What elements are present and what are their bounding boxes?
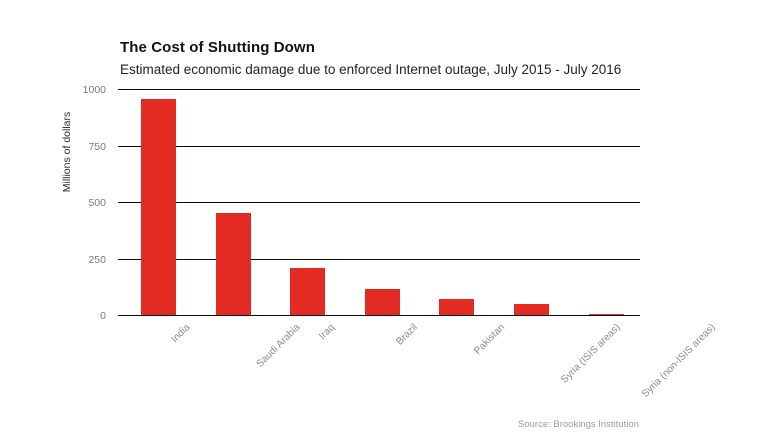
y-tick-label-500: 500 bbox=[46, 198, 106, 208]
y-tick-label-0: 0 bbox=[46, 311, 106, 321]
x-tick-label-syria-non-isis: Syria (non-ISIS areas) bbox=[640, 322, 718, 400]
chart-title: The Cost of Shutting Down bbox=[120, 39, 315, 56]
gridline-750: 750 bbox=[118, 146, 640, 147]
x-tick-label-india: India bbox=[169, 322, 192, 345]
x-tick-label-iraq: Iraq bbox=[317, 322, 337, 342]
x-tick-label-syria-isis: Syria (ISIS areas) bbox=[559, 322, 623, 386]
source-note: Source: Brookings Institution bbox=[518, 419, 639, 430]
axis-baseline-0: 0 bbox=[118, 315, 640, 316]
gridline-250: 250 bbox=[118, 259, 640, 260]
bar-pakistan[interactable] bbox=[439, 299, 474, 315]
bar-india[interactable] bbox=[141, 99, 176, 315]
gridline-500: 500 bbox=[118, 202, 640, 203]
bar-brazil[interactable] bbox=[365, 289, 400, 315]
y-tick-label-1000: 1000 bbox=[46, 85, 106, 95]
x-tick-label-brazil: Brazil bbox=[394, 322, 419, 347]
x-tick-label-pakistan: Pakistan bbox=[473, 322, 508, 357]
y-tick-label-250: 250 bbox=[46, 255, 106, 265]
x-tick-label-saudi-arabia: Saudi Arabia bbox=[254, 322, 302, 370]
chart-subtitle: Estimated economic damage due to enforce… bbox=[120, 62, 621, 77]
bar-syria-non-isis[interactable] bbox=[589, 314, 624, 315]
bar-saudi-arabia[interactable] bbox=[216, 213, 251, 315]
gridline-1000: 1000 bbox=[118, 89, 640, 90]
chart-figure: The Cost of Shutting Down Estimated econ… bbox=[0, 0, 772, 434]
bar-syria-isis[interactable] bbox=[514, 304, 549, 315]
plot-area: 1000 750 500 250 0 India Saudi Arabia Ir… bbox=[118, 89, 640, 315]
y-tick-label-750: 750 bbox=[46, 142, 106, 152]
bar-iraq[interactable] bbox=[290, 268, 325, 315]
